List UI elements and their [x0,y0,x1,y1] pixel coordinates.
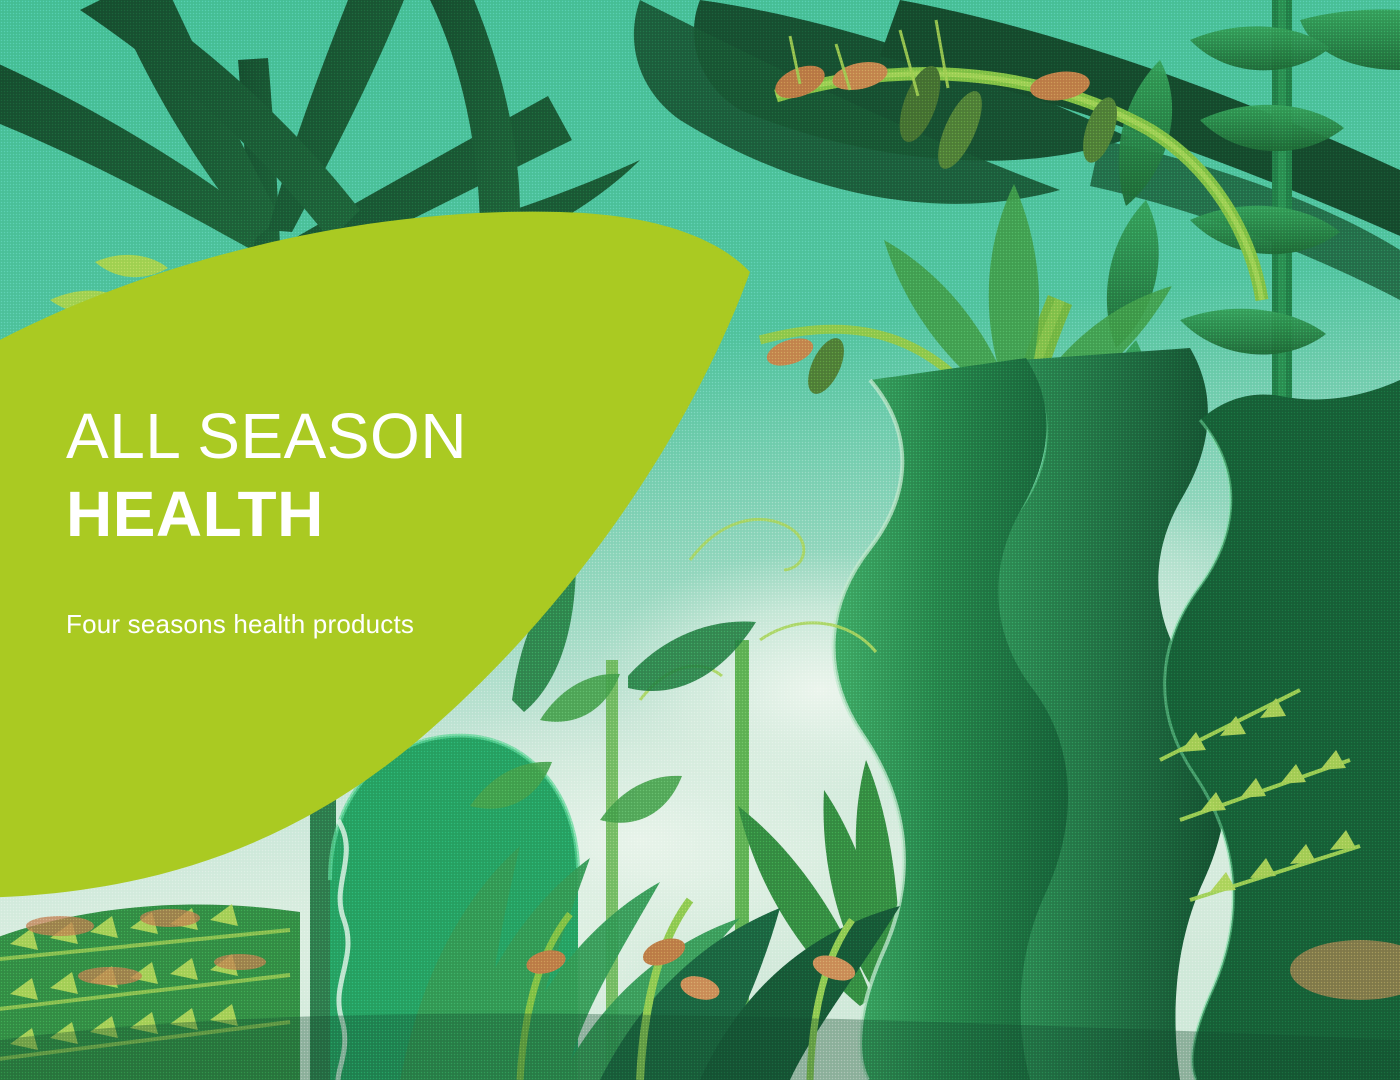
subtitle: Four seasons health products [66,609,686,640]
title-line-1: ALL SEASON [66,404,686,468]
poster-canvas: ALL SEASON HEALTH Four seasons health pr… [0,0,1400,1080]
headline-block: ALL SEASON HEALTH Four seasons health pr… [66,404,686,640]
title-line-2: HEALTH [66,482,686,546]
